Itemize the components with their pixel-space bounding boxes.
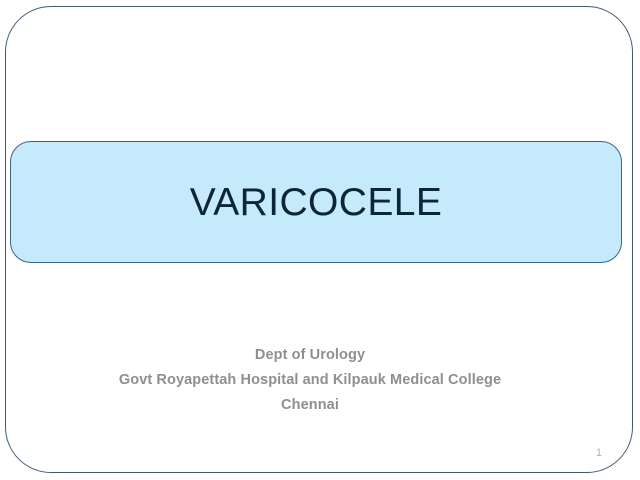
subtitle-line-city: Chennai	[0, 393, 620, 418]
subtitle-line-institution: Govt Royapettah Hospital and Kilpauk Med…	[0, 368, 620, 393]
subtitle-block: Dept of Urology Govt Royapettah Hospital…	[0, 343, 620, 418]
title-banner: VARICOCELE	[10, 141, 622, 263]
page-number: 1	[592, 446, 606, 460]
presentation-slide: VARICOCELE Dept of Urology Govt Royapett…	[0, 0, 640, 480]
slide-title: VARICOCELE	[190, 183, 443, 222]
subtitle-line-department: Dept of Urology	[0, 343, 620, 368]
